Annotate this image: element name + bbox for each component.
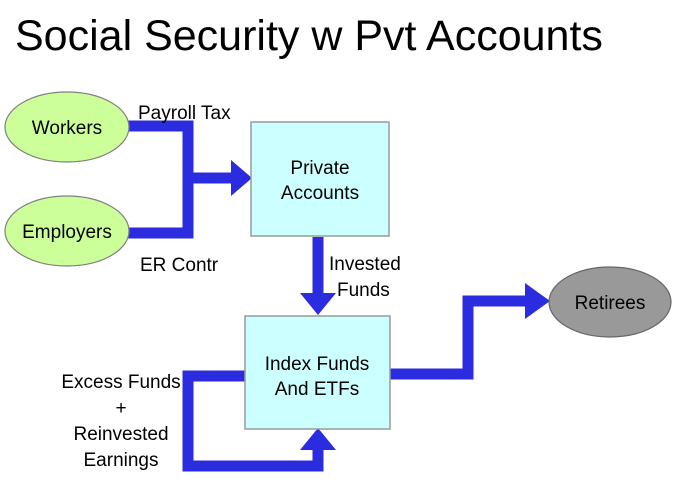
node-retirees[interactable]: Retirees <box>549 267 671 337</box>
node-index-funds-label-line1: Index Funds <box>265 354 370 375</box>
connector-line <box>388 301 527 374</box>
node-private-accounts[interactable]: Private Accounts <box>251 122 389 236</box>
edge-label-er-contr: ER Contr <box>140 255 219 276</box>
edge-label-excess-funds-line4: Earnings <box>84 450 159 471</box>
edge-label-excess-funds-line3: Reinvested <box>73 424 168 445</box>
edge-employers-to-private-accounts <box>124 178 233 233</box>
edge-label-invested-funds-line1: Invested <box>329 254 401 275</box>
edge-private-accounts-to-index-funds <box>300 237 336 315</box>
edge-label-excess-funds-line2: + <box>115 398 126 419</box>
node-private-accounts-label-line1: Private <box>290 158 349 179</box>
node-private-accounts-shape[interactable] <box>251 122 389 236</box>
arrowhead-into-private-accounts <box>231 160 252 196</box>
node-workers[interactable]: Workers <box>5 92 129 162</box>
node-index-funds-label-line2: And ETFs <box>275 379 359 400</box>
node-private-accounts-label-line2: Accounts <box>281 183 359 204</box>
connector-line <box>124 126 233 178</box>
edge-workers-to-private-accounts <box>124 126 233 178</box>
arrowhead-into-index-funds <box>300 293 336 315</box>
edge-index-funds-to-retirees <box>388 283 550 374</box>
connector-line <box>124 178 233 233</box>
flowchart-diagram: Social Security w Pvt Accounts <box>0 0 699 485</box>
page-title: Social Security w Pvt Accounts <box>15 12 603 60</box>
edge-label-invested-funds-line2: Funds <box>337 280 390 301</box>
edge-label-payroll-tax: Payroll Tax <box>138 103 231 124</box>
node-workers-label: Workers <box>32 118 102 139</box>
arrowhead-feedback-into-index-funds <box>300 428 336 450</box>
node-employers[interactable]: Employers <box>5 196 129 266</box>
node-index-funds[interactable]: Index Funds And ETFs <box>245 316 390 429</box>
arrowhead-into-retirees <box>525 283 550 319</box>
node-retirees-label: Retirees <box>575 293 646 314</box>
edge-label-excess-funds-line1: Excess Funds <box>61 372 180 393</box>
node-employers-label: Employers <box>22 222 112 243</box>
diagram-canvas-container: Social Security w Pvt Accounts <box>0 0 699 485</box>
